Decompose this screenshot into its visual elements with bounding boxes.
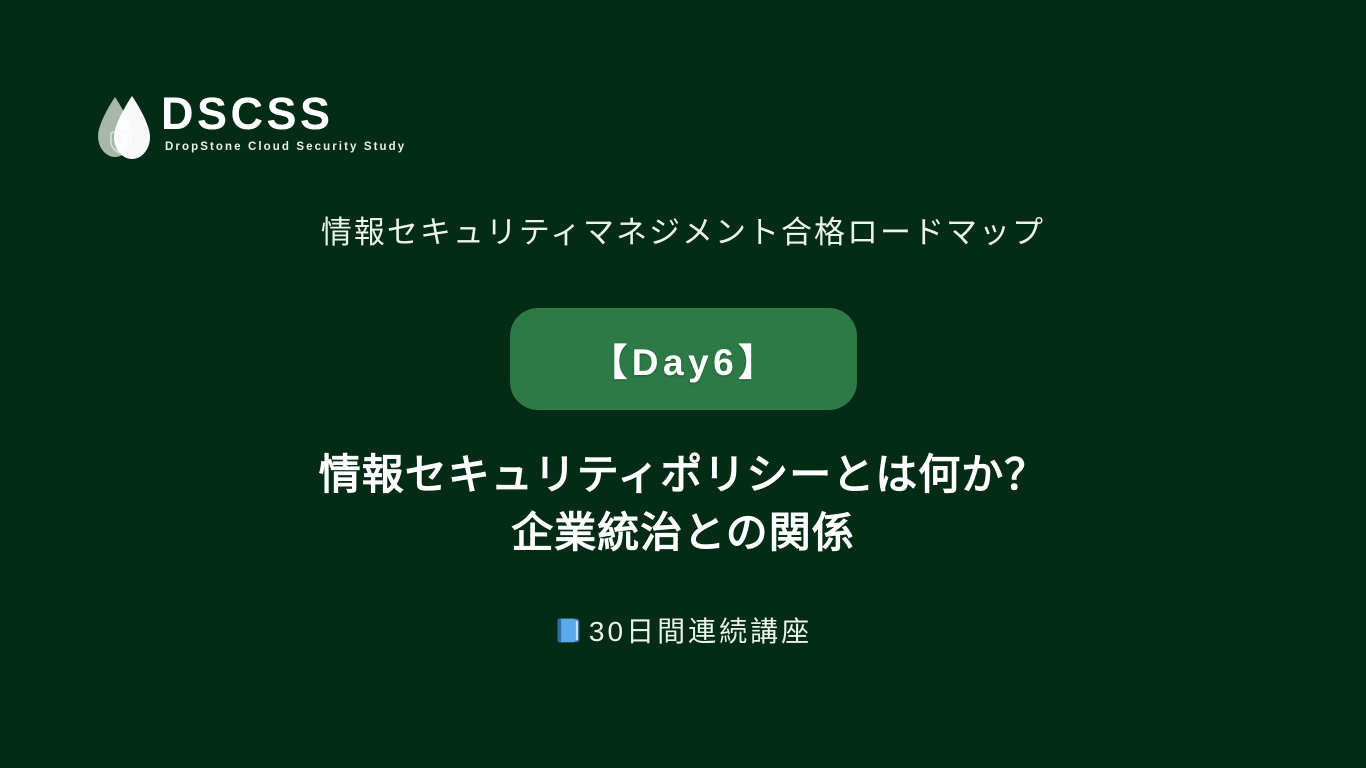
series-subtitle: 情報セキュリティマネジメント合格ロードマップ	[321, 213, 1045, 253]
water-droplet-shield-icon	[93, 92, 155, 164]
brand-logo: DSCSS DropStone Cloud Security Study	[93, 88, 406, 164]
day-badge: 【Day6】	[510, 308, 857, 410]
logo-text-group: DSCSS DropStone Cloud Security Study	[161, 88, 406, 153]
day-badge-label: 【Day6】	[586, 332, 779, 386]
slide-root: DSCSS DropStone Cloud Security Study 情報セ…	[0, 0, 1366, 768]
page-title-line-1: 情報セキュリティポリシーとは何か？	[319, 446, 1047, 504]
blue-book-icon	[554, 616, 582, 644]
course-footer: 30日間連続講座	[554, 610, 812, 650]
page-title-line-2: 企業統治との関係	[319, 504, 1047, 562]
logo-wordmark: DSCSS	[161, 90, 406, 137]
logo-tagline: DropStone Cloud Security Study	[165, 141, 406, 153]
page-title: 情報セキュリティポリシーとは何か？ 企業統治との関係	[319, 446, 1047, 562]
course-footer-label: 30日間連続講座	[589, 610, 812, 650]
